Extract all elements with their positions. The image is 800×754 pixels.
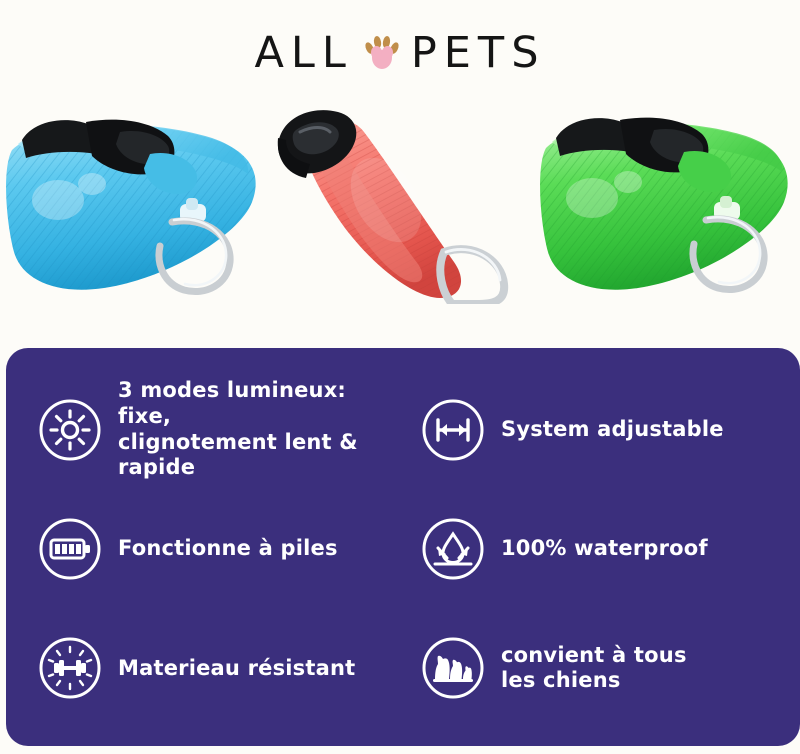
feature-label: Fonctionne à piles bbox=[118, 536, 338, 562]
feature-label: 100% waterproof bbox=[501, 536, 708, 562]
feature-durable-material: Materieau résistant bbox=[20, 609, 403, 728]
paw-print-icon bbox=[365, 33, 399, 73]
three-dogs-icon bbox=[421, 636, 485, 700]
brand-logo: ALL PETS bbox=[0, 18, 800, 88]
feature-label: convient à tous les chiens bbox=[501, 643, 687, 694]
brand-word-left: ALL bbox=[254, 32, 352, 75]
feature-battery: Fonctionne à piles bbox=[20, 489, 403, 608]
feature-light-modes: 3 modes lumineux: fixe, clignotement len… bbox=[20, 370, 403, 489]
battery-icon bbox=[38, 517, 102, 581]
feature-label: 3 modes lumineux: fixe, clignotement len… bbox=[118, 378, 399, 480]
product-image-red-collar bbox=[266, 92, 532, 304]
product-image-blue-collar bbox=[0, 92, 266, 304]
feature-suits-all-dogs: convient à tous les chiens bbox=[403, 609, 786, 728]
product-photo-strip bbox=[0, 92, 800, 304]
waterproof-drop-icon bbox=[421, 517, 485, 581]
feature-waterproof: 100% waterproof bbox=[403, 489, 786, 608]
brightness-sun-icon bbox=[38, 398, 102, 462]
feature-label: Materieau résistant bbox=[118, 656, 355, 682]
brand-word-right: PETS bbox=[411, 32, 546, 75]
features-panel: 3 modes lumineux: fixe, clignotement len… bbox=[6, 348, 800, 746]
product-image-green-collar bbox=[532, 92, 798, 304]
adjustable-width-icon bbox=[421, 398, 485, 462]
features-grid: 3 modes lumineux: fixe, clignotement len… bbox=[6, 348, 800, 746]
durable-dumbbell-icon bbox=[38, 636, 102, 700]
feature-label: System adjustable bbox=[501, 417, 724, 443]
feature-adjustable: System adjustable bbox=[403, 370, 786, 489]
product-infographic: ALL PETS bbox=[0, 0, 800, 754]
